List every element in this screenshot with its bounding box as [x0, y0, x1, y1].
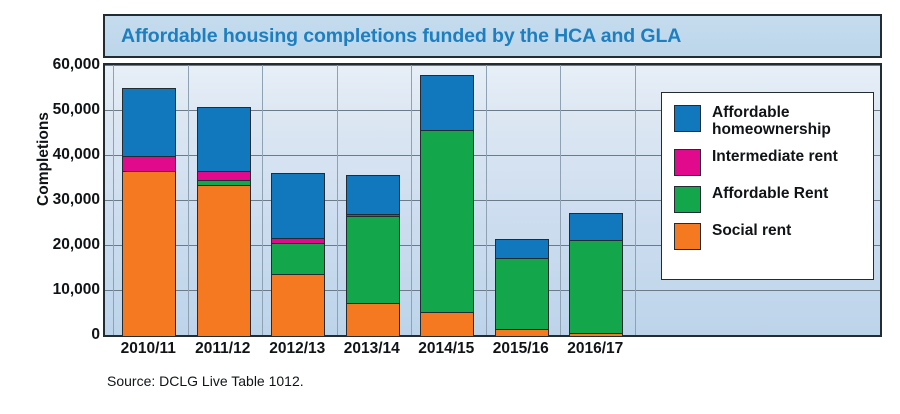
category-separator [262, 65, 263, 335]
chart-title: Affordable housing completions funded by… [105, 25, 681, 48]
y-axis-tick-label: 40,000 [12, 146, 100, 164]
x-axis-ticks: 2010/112011/122012/132013/142014/152015/… [103, 340, 882, 366]
legend-item-label: Affordable Rent [712, 185, 828, 202]
gridline [105, 65, 880, 66]
source-note: Source: DCLG Live Table 1012. [107, 373, 304, 389]
chart-figure: Affordable housing completions funded by… [0, 0, 900, 414]
category-separator [188, 65, 189, 335]
x-axis-tick-label: 2016/17 [550, 340, 640, 358]
y-axis-tick-label: 10,000 [12, 281, 100, 299]
gridline [105, 290, 880, 291]
legend-item-social_rent[interactable]: Social rent [674, 222, 863, 250]
legend-item-label: Intermediate rent [712, 148, 838, 165]
category-separator [560, 65, 561, 335]
legend-item-label: Social rent [712, 222, 791, 239]
legend-item-affordable_rent[interactable]: Affordable Rent [674, 185, 863, 213]
category-separator [337, 65, 338, 335]
y-axis-tick-label: 50,000 [12, 101, 100, 119]
chart-legend: Affordable homeownershipIntermediate ren… [661, 92, 874, 280]
y-axis-tick-label: 0 [12, 326, 100, 344]
y-axis-tick-label: 60,000 [12, 56, 100, 74]
legend-swatch-icon [674, 105, 701, 132]
legend-item-label: Affordable homeownership [712, 104, 862, 139]
chart-title-bar: Affordable housing completions funded by… [103, 14, 882, 58]
category-separator [113, 65, 114, 335]
y-axis-ticks: 60,00050,00040,00030,00020,00010,0000 [8, 63, 100, 337]
legend-item-affordable_homeownership[interactable]: Affordable homeownership [674, 104, 863, 139]
category-separator [411, 65, 412, 335]
legend-swatch-icon [674, 223, 701, 250]
y-axis-tick-label: 30,000 [12, 191, 100, 209]
y-axis-tick-label: 20,000 [12, 236, 100, 254]
legend-item-intermediate_rent[interactable]: Intermediate rent [674, 148, 863, 176]
legend-swatch-icon [674, 149, 701, 176]
category-separator [486, 65, 487, 335]
legend-swatch-icon [674, 186, 701, 213]
category-separator [635, 65, 636, 335]
